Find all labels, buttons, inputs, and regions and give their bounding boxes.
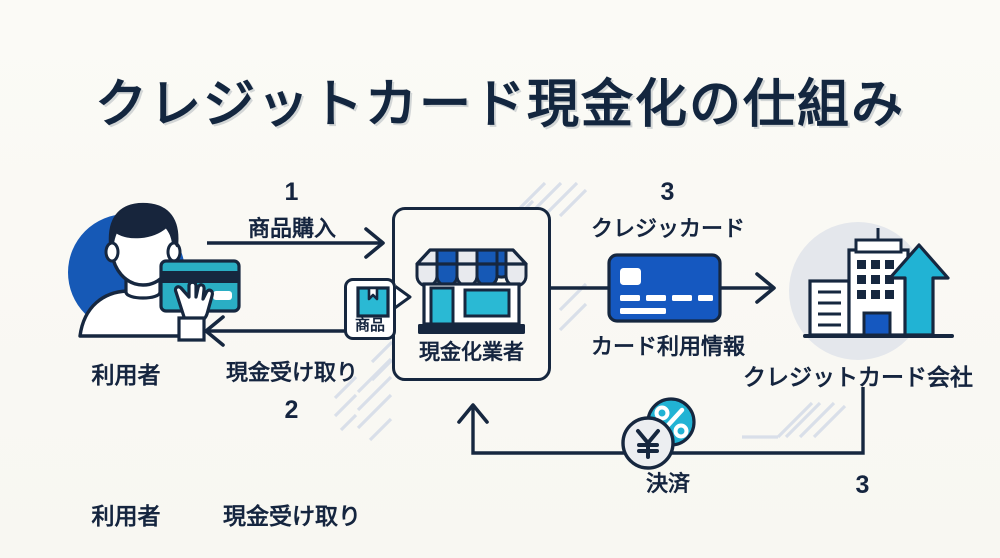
goods-bubble-tail (0, 0, 1000, 558)
goods-label: 商品 (347, 314, 393, 335)
goods-badge: 商品 (344, 278, 396, 340)
diagram-canvas: クレジットカード現金化の仕組み (0, 0, 1000, 558)
